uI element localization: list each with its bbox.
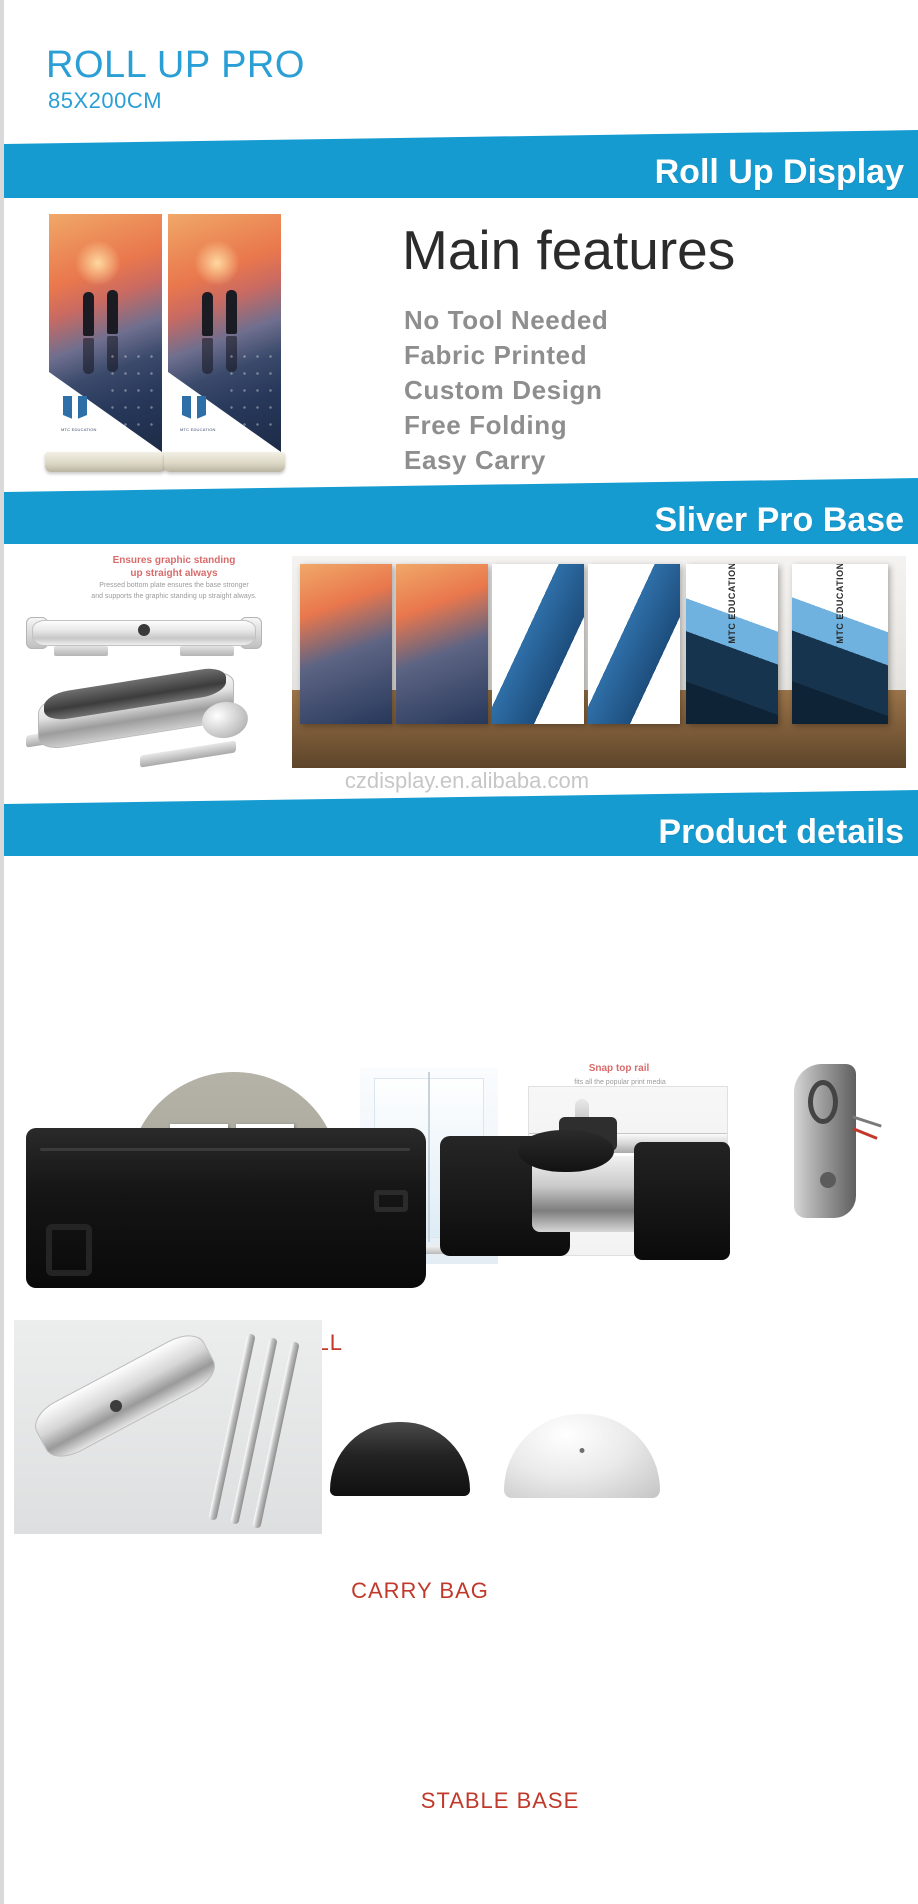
banner-label: Roll Up Display [655,153,904,192]
bag-zipper [40,1148,410,1151]
bag-end-cap [518,1130,614,1172]
rollup-banner-right: MTC EDUCATION [168,214,281,472]
product-detail-page: ROLL UP PRO 85X200CM Roll Up Display MTC… [0,0,918,1904]
base-subcaption-line1: Pressed bottom plate ensures the base st… [99,582,248,589]
banner-brand-text: MTC EDUCATION [61,427,97,432]
dot-pattern [106,348,158,426]
banner-brand-text: MTC EDUCATION [180,427,216,432]
cartridge-body [28,1327,222,1466]
page-title: ROLL UP PRO [46,44,305,87]
showroom-banner: MTC EDUCATION [686,564,778,724]
silhouette-reflection [83,338,94,374]
support-pole-segment [230,1337,277,1525]
support-pole-segment [252,1341,299,1529]
bracket-opening [808,1080,838,1124]
base-stabilizer-leg [140,740,236,767]
carry-bag-detail-photo [440,1122,730,1292]
base-top-view-photo [26,606,262,660]
base-foot-right [180,646,234,656]
section-banner-sliver-pro-base: Sliver Pro Base [4,478,918,546]
feature-item: Free Folding [404,408,608,443]
feature-item: Custom Design [404,373,608,408]
bag-sleeve-right [634,1142,730,1260]
book-logo-icon [182,396,206,420]
bracket-hole [820,1172,836,1188]
banner-graphic: MTC EDUCATION [168,214,281,452]
showroom-banner-text: MTC EDUCATION [835,564,845,644]
banner-label: Sliver Pro Base [655,501,904,540]
silhouette-figure [202,292,213,336]
feature-item: Fabric Printed [404,338,608,373]
showroom-banner [492,564,584,724]
carry-bag-photo [26,1128,426,1288]
bag-strap [46,1224,92,1276]
bracket-cord-red [852,1127,877,1140]
book-logo-icon [63,396,87,420]
section-banner-product-details: Product details [4,790,918,858]
hook-bracket-photo [752,1064,886,1264]
base-iso-view-photo [20,662,270,780]
stable-base-black [330,1422,470,1496]
features-heading: Main features [402,218,735,282]
product-size-subtitle: 85X200CM [48,88,162,114]
rollup-base [45,452,166,472]
section-banner-roll-up-display: Roll Up Display [4,130,918,198]
label-carry-bag: CARRY BAG [290,1578,550,1604]
rollup-banner-left: MTC EDUCATION [49,214,162,472]
base-knob [138,624,150,636]
label-stable-base: STABLE BASE [370,1788,630,1814]
sun-glow [194,240,240,286]
dot-pattern [225,348,277,426]
silhouette-figure [107,290,118,334]
base-subcaption-line2: and supports the graphic standing up str… [91,593,256,600]
base-subcaption: Pressed bottom plate ensures the base st… [44,580,304,602]
sliver-pro-base-section: Ensures graphic standing up straight alw… [4,544,918,794]
sun-glow [75,240,121,286]
silhouette-figure [226,290,237,334]
banner-label: Product details [658,813,904,852]
rollup-banner-pair-photo: MTC EDUCATION MTC EDUCATION [49,214,284,472]
showroom-banner [300,564,392,724]
feature-item: No Tool Needed [404,303,608,338]
showroom-banner [396,564,488,724]
showroom-banner [588,564,680,724]
showroom-photo: MTC EDUCATION MTC EDUCATION [292,556,906,768]
base-caption-line2: up straight always [130,568,217,579]
showroom-banner-text: MTC EDUCATION [727,564,737,644]
support-pole [428,1072,430,1242]
features-list: No Tool Needed Fabric Printed Custom Des… [404,303,608,478]
product-details-section: Snap top rail fits all the popular print… [4,856,918,1904]
bag-handle [374,1190,408,1212]
silhouette-figure [83,292,94,336]
main-features-section: MTC EDUCATION MTC EDUCATION [4,198,918,480]
silhouette-reflection [202,338,213,374]
feature-item: Easy Carry [404,443,608,478]
support-pole-segment [208,1333,255,1521]
base-foot-left [54,646,108,656]
rollup-base [164,452,285,472]
base-pin [580,1448,585,1453]
banner-graphic: MTC EDUCATION [49,214,162,452]
base-caption-line1: Ensures graphic standing [113,555,236,566]
base-caption: Ensures graphic standing up straight alw… [62,554,286,580]
parts-photo [14,1320,322,1534]
stable-base-white [504,1414,660,1498]
showroom-banner: MTC EDUCATION [792,564,888,724]
cartridge-hole [110,1400,122,1412]
snap-rail-caption: Snap top rail [524,1062,714,1075]
bracket-cord [852,1115,881,1127]
